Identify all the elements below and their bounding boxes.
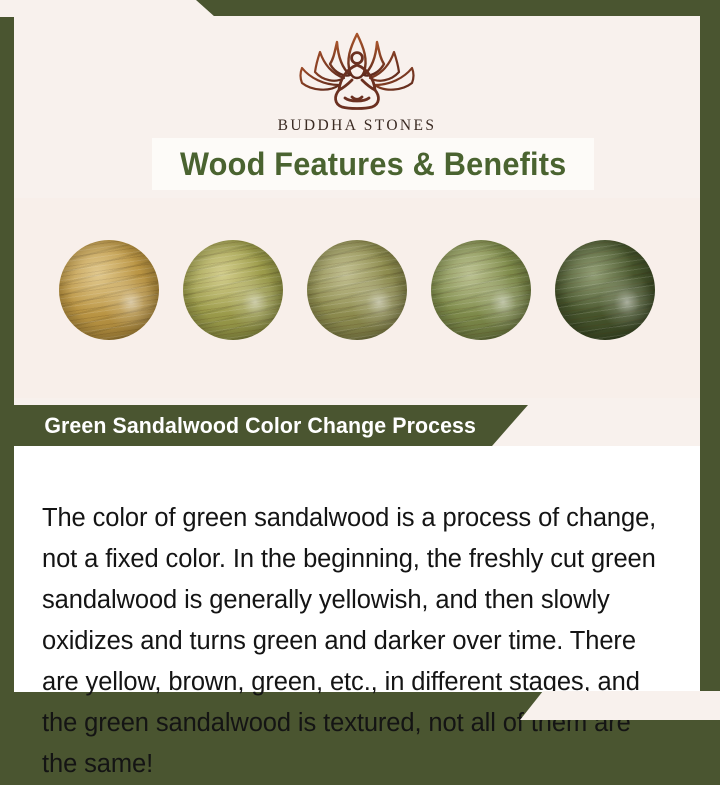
top-left-notch xyxy=(0,0,215,17)
page-surface: BUDDHA STONES Wood Features & Benefits xyxy=(14,16,700,692)
section-banner-label: Green Sandalwood Color Change Process xyxy=(21,413,476,439)
outer-green-frame: BUDDHA STONES Wood Features & Benefits xyxy=(0,0,720,720)
lotus-meditation-figure-icon xyxy=(282,28,432,116)
bottom-right-notch xyxy=(520,691,720,720)
brand-logo: BUDDHA STONES xyxy=(262,28,452,135)
wood-bead-stage-2 xyxy=(183,240,283,340)
bead-shading xyxy=(431,240,531,340)
wood-bead-stage-1 xyxy=(59,240,159,340)
title-plaque: Wood Features & Benefits xyxy=(152,138,594,190)
section-banner: Green Sandalwood Color Change Process xyxy=(14,405,528,446)
bead-shading xyxy=(307,240,407,340)
page-title: Wood Features & Benefits xyxy=(180,146,566,183)
wood-bead-stage-3 xyxy=(307,240,407,340)
body-panel: The color of green sandalwood is a proce… xyxy=(14,446,700,692)
brand-name: BUDDHA STONES xyxy=(262,117,452,135)
bead-showcase xyxy=(14,198,700,398)
wood-bead-stage-5 xyxy=(555,240,655,340)
bead-shading xyxy=(59,240,159,340)
body-paragraph: The color of green sandalwood is a proce… xyxy=(14,472,700,785)
bead-row xyxy=(14,240,700,340)
header: BUDDHA STONES Wood Features & Benefits xyxy=(14,16,700,198)
bead-shading xyxy=(555,240,655,340)
bead-shading xyxy=(183,240,283,340)
wood-bead-stage-4 xyxy=(431,240,531,340)
